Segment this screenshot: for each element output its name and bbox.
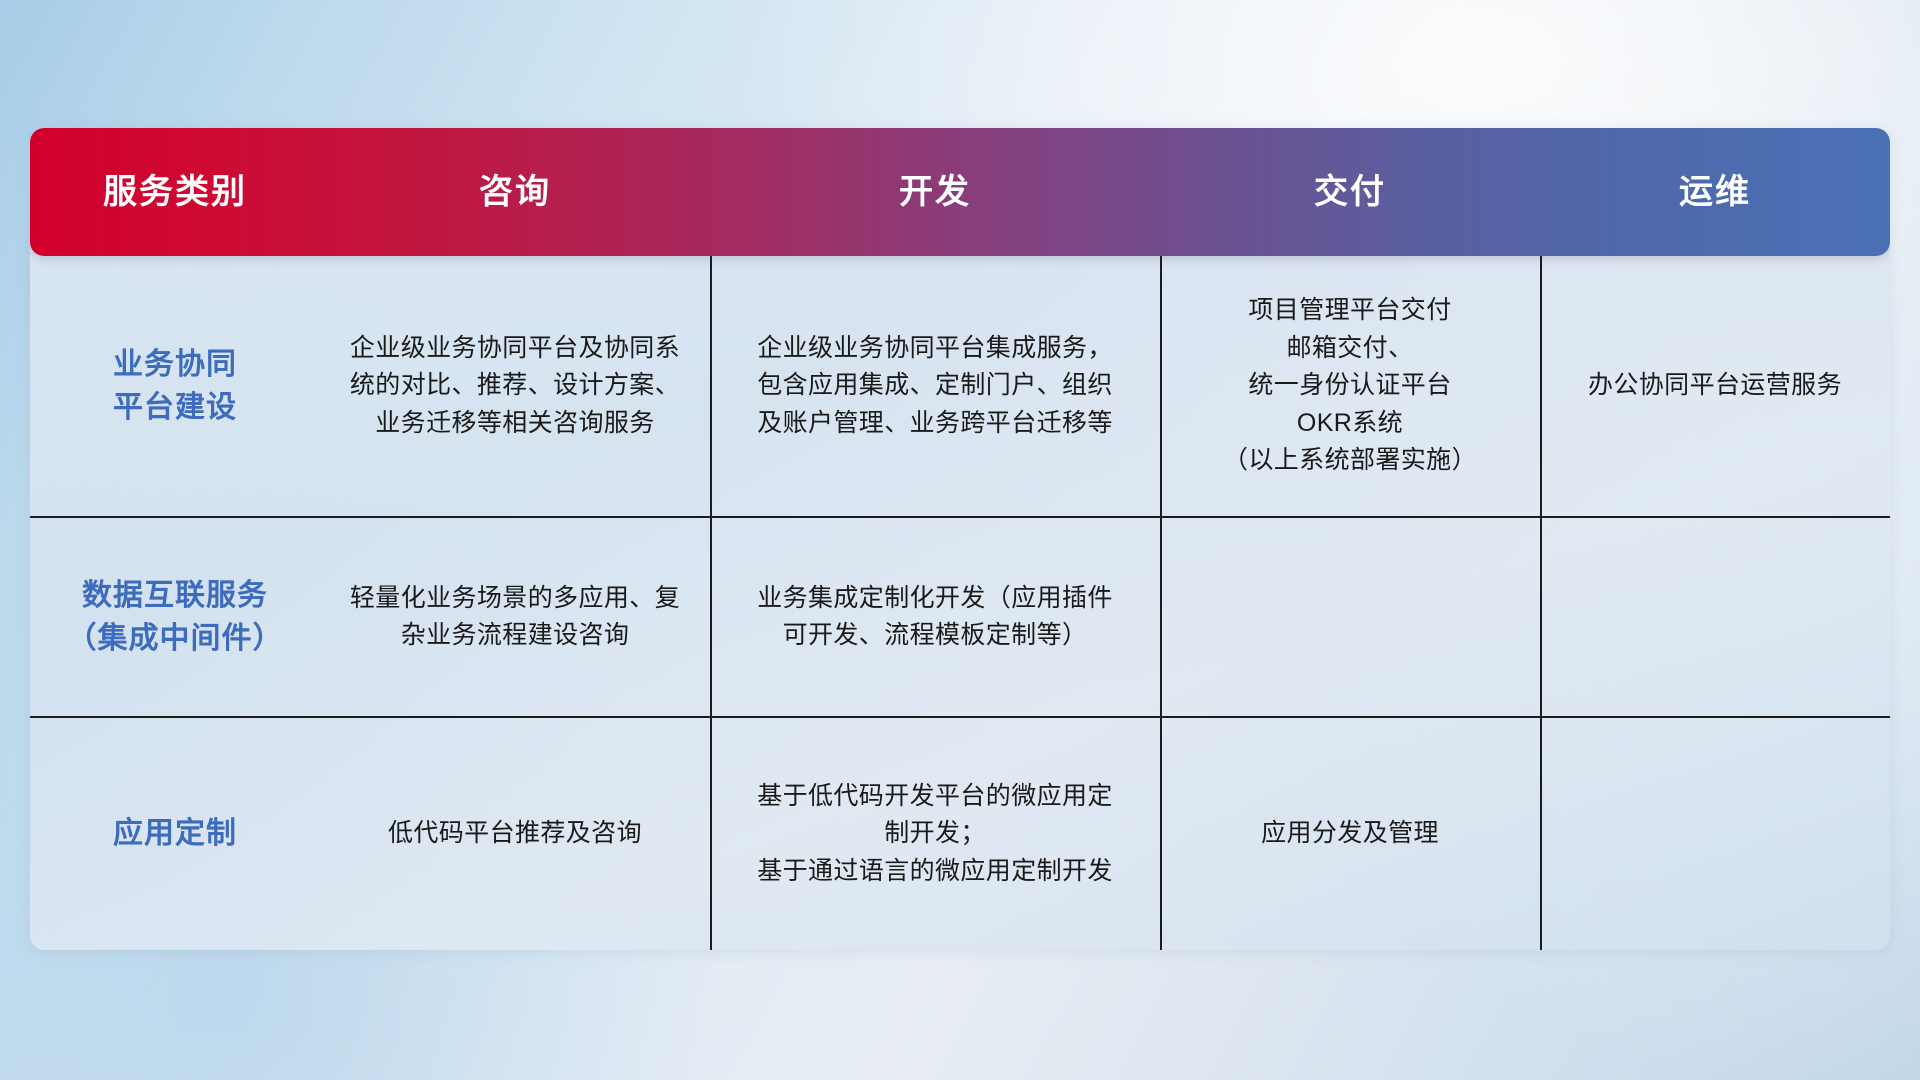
cell-consulting: 轻量化业务场景的多应用、复杂业务流程建设咨询 — [320, 518, 710, 716]
cell-delivery: 应用分发及管理 — [1160, 718, 1540, 950]
cell-text: 项目管理平台交付邮箱交付、统一身份认证平台OKR系统（以上系统部署实施） — [1223, 292, 1477, 480]
cell-delivery: 项目管理平台交付邮箱交付、统一身份认证平台OKR系统（以上系统部署实施） — [1160, 256, 1540, 516]
row-label-text: 应用定制 — [113, 812, 237, 856]
row-label-text: 业务协同平台建设 — [113, 343, 237, 430]
cell-operations — [1540, 518, 1890, 716]
table-row: 应用定制 低代码平台推荐及咨询 基于低代码开发平台的微应用定制开发；基于通过语言… — [30, 718, 1890, 950]
cell-text: 企业级业务协同平台集成服务，包含应用集成、定制门户、组织及账户管理、业务跨平台迁… — [757, 330, 1113, 443]
cell-operations — [1540, 718, 1890, 950]
cell-text: 企业级业务协同平台及协同系统的对比、推荐、设计方案、业务迁移等相关咨询服务 — [350, 330, 680, 443]
column-header-operations: 运维 — [1540, 172, 1890, 213]
table-body: 业务协同平台建设 企业级业务协同平台及协同系统的对比、推荐、设计方案、业务迁移等… — [30, 256, 1890, 950]
service-matrix-table: 服务类别 咨询 开发 交付 运维 业务协同平台建设 企业级业务协同平台及协同系统… — [30, 128, 1890, 950]
row-label-cell: 数据互联服务（集成中间件） — [30, 518, 320, 716]
cell-development: 企业级业务协同平台集成服务，包含应用集成、定制门户、组织及账户管理、业务跨平台迁… — [710, 256, 1160, 516]
cell-consulting: 低代码平台推荐及咨询 — [320, 718, 710, 950]
row-label-text: 数据互联服务（集成中间件） — [67, 574, 284, 661]
table-row: 数据互联服务（集成中间件） 轻量化业务场景的多应用、复杂业务流程建设咨询 业务集… — [30, 518, 1890, 718]
table-row: 业务协同平台建设 企业级业务协同平台及协同系统的对比、推荐、设计方案、业务迁移等… — [30, 256, 1890, 518]
column-header-consulting: 咨询 — [320, 172, 710, 213]
row-label-cell: 应用定制 — [30, 718, 320, 950]
row-label-cell: 业务协同平台建设 — [30, 256, 320, 516]
cell-text: 办公协同平台运营服务 — [1588, 367, 1842, 405]
column-header-development: 开发 — [710, 172, 1160, 213]
cell-delivery — [1160, 518, 1540, 716]
cell-consulting: 企业级业务协同平台及协同系统的对比、推荐、设计方案、业务迁移等相关咨询服务 — [320, 256, 710, 516]
cell-text: 业务集成定制化开发（应用插件可开发、流程模板定制等） — [757, 580, 1113, 655]
cell-development: 基于低代码开发平台的微应用定制开发；基于通过语言的微应用定制开发 — [710, 718, 1160, 950]
cell-operations: 办公协同平台运营服务 — [1540, 256, 1890, 516]
table-header-row: 服务类别 咨询 开发 交付 运维 — [30, 128, 1890, 256]
cell-development: 业务集成定制化开发（应用插件可开发、流程模板定制等） — [710, 518, 1160, 716]
cell-text: 低代码平台推荐及咨询 — [388, 815, 642, 853]
cell-text: 基于低代码开发平台的微应用定制开发；基于通过语言的微应用定制开发 — [757, 778, 1113, 891]
column-header-delivery: 交付 — [1160, 172, 1540, 213]
cell-text: 轻量化业务场景的多应用、复杂业务流程建设咨询 — [350, 580, 680, 655]
cell-text: 应用分发及管理 — [1261, 815, 1439, 853]
column-header-category: 服务类别 — [30, 172, 320, 213]
